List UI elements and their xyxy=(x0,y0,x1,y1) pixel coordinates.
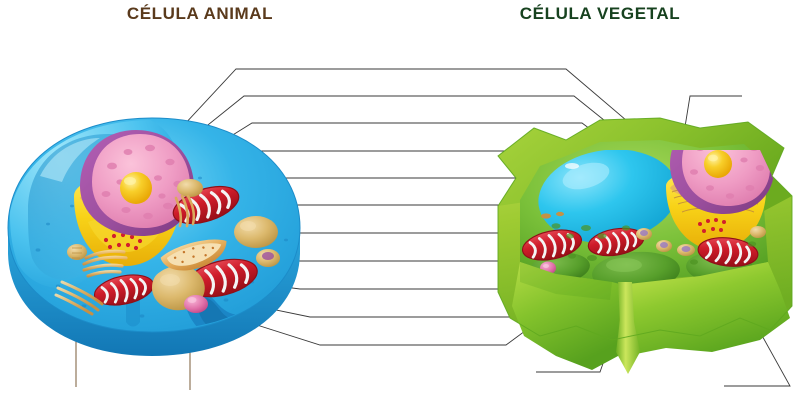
animal-lysosome xyxy=(184,295,208,313)
cells-illustration xyxy=(0,0,800,418)
plant-nucleolus xyxy=(704,150,732,178)
animal-vesicle-1 xyxy=(234,216,278,248)
plant-cell-illustration xyxy=(498,118,792,374)
animal-peroxisome xyxy=(256,249,280,267)
diagram-canvas: CÉLULA ANIMAL CÉLULA VEGETAL xyxy=(0,0,800,418)
animal-cell-illustration xyxy=(8,112,300,356)
animal-nucleolus xyxy=(120,172,152,204)
animal-vesicle-3 xyxy=(177,179,203,197)
